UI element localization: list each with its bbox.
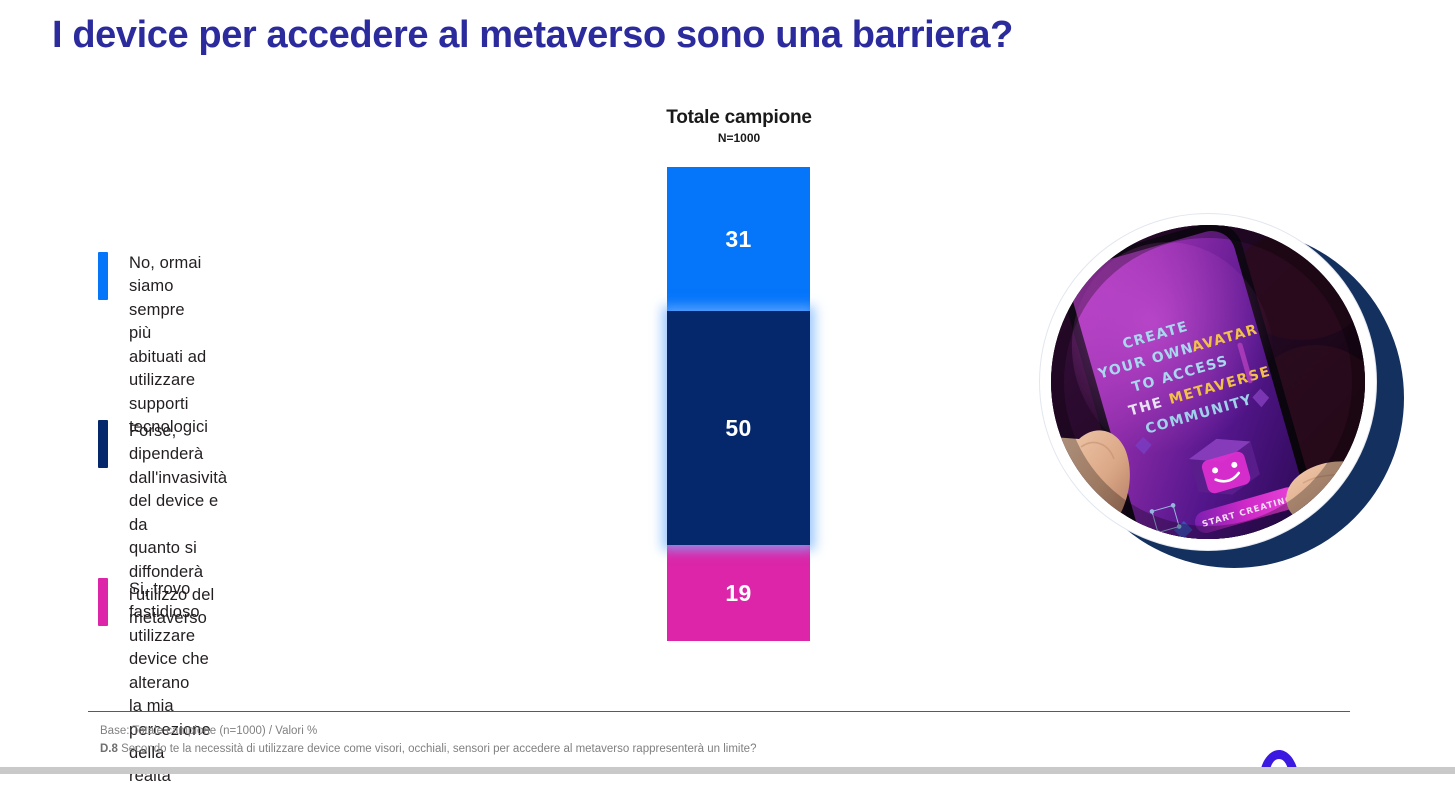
bar-segment-forse[interactable]: 50 — [667, 311, 810, 545]
legend-swatch-icon — [98, 252, 108, 300]
legend-label-line1: Si, trovo fastidioso utilizzare device c… — [129, 580, 209, 692]
legend-label-line1: No, ormai siamo sempre più abituati ad — [129, 254, 206, 366]
legend-label-line1: Forse, dipenderà dall'invasività del dev… — [129, 422, 227, 534]
bar-segment-value: 31 — [725, 226, 751, 253]
page-bottom-edge — [0, 767, 1455, 774]
footer-divider — [88, 711, 1350, 712]
bar-segment-si[interactable]: 19 — [667, 545, 810, 641]
legend-item-label: No, ormai siamo sempre più abituati ad u… — [129, 252, 208, 439]
question-text: Secondo te la necessità di utilizzare de… — [121, 743, 756, 755]
bar-segment-value: 50 — [725, 415, 751, 442]
footer-question-line: D.8 Secondo te la necessità di utilizzar… — [100, 740, 1300, 758]
question-code: D.8 — [100, 743, 118, 755]
chart-header-title: Totale campione — [606, 107, 872, 129]
metaverse-photo: CREATE YOUR OWN AVATAR TO ACCESS THE MET… — [1051, 225, 1365, 539]
stacked-bar-chart: 31 50 19 — [667, 167, 810, 641]
chart-header: Totale campione N=1000 — [606, 107, 872, 145]
legend-item-no[interactable]: No, ormai siamo sempre più abituati ad u… — [98, 252, 208, 439]
footer-notes: Base: Totale campione (n=1000) / Valori … — [100, 722, 1300, 759]
legend-swatch-icon — [98, 420, 108, 468]
metaverse-photo-figure: CREATE YOUR OWN AVATAR TO ACCESS THE MET… — [1040, 214, 1410, 584]
legend-swatch-icon — [98, 578, 108, 626]
chart-header-sample-size: N=1000 — [606, 131, 872, 145]
bar-segment-no[interactable]: 31 — [667, 167, 810, 311]
page-title: I device per accedere al metaverso sono … — [52, 14, 1252, 58]
bar-segment-value: 19 — [725, 580, 751, 607]
footer-base-line: Base: Totale campione (n=1000) / Valori … — [100, 722, 1300, 740]
